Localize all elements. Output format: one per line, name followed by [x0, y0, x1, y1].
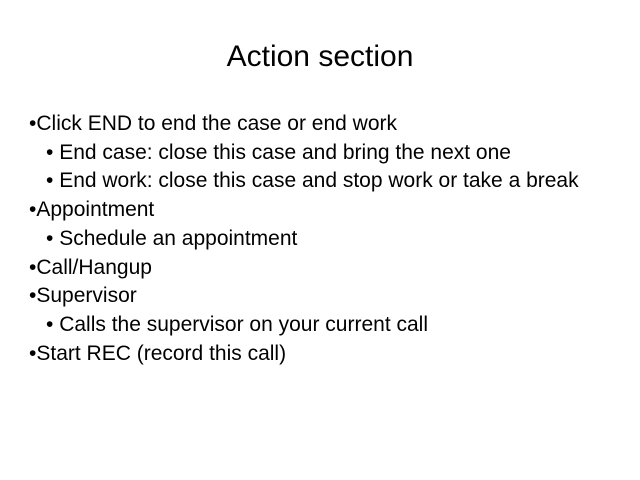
list-item: • Schedule an appointment [29, 225, 611, 254]
bullet-icon: • [46, 141, 59, 164]
list-item: • Calls the supervisor on your current c… [29, 311, 611, 340]
list-item: •Start REC (record this call) [29, 340, 611, 369]
bullet-icon: • [46, 169, 59, 192]
bullet-list: •Click END to end the case or end work •… [29, 110, 611, 368]
list-item-label: Appointment [36, 198, 154, 221]
list-item-label: End case: close this case and bring the … [59, 141, 511, 164]
list-item-label: Schedule an appointment [59, 227, 297, 250]
page-title: Action section [0, 40, 640, 74]
slide-canvas: Action section •Click END to end the cas… [0, 0, 640, 480]
list-item-label: Calls the supervisor on your current cal… [59, 313, 428, 336]
list-item-label: Click END to end the case or end work [36, 112, 397, 135]
list-item: • End work: close this case and stop wor… [29, 167, 611, 196]
list-item-label: End work: close this case and stop work … [59, 169, 578, 192]
list-item: •Appointment [29, 196, 611, 225]
list-item-label: Start REC (record this call) [36, 342, 286, 365]
list-item: •Call/Hangup [29, 254, 611, 283]
list-item-label: Call/Hangup [36, 256, 152, 279]
bullet-icon: • [46, 313, 59, 336]
list-item: • End case: close this case and bring th… [29, 139, 611, 168]
list-item: •Click END to end the case or end work [29, 110, 611, 139]
bullet-icon: • [46, 227, 59, 250]
list-item-label: Supervisor [36, 284, 136, 307]
list-item: •Supervisor [29, 282, 611, 311]
